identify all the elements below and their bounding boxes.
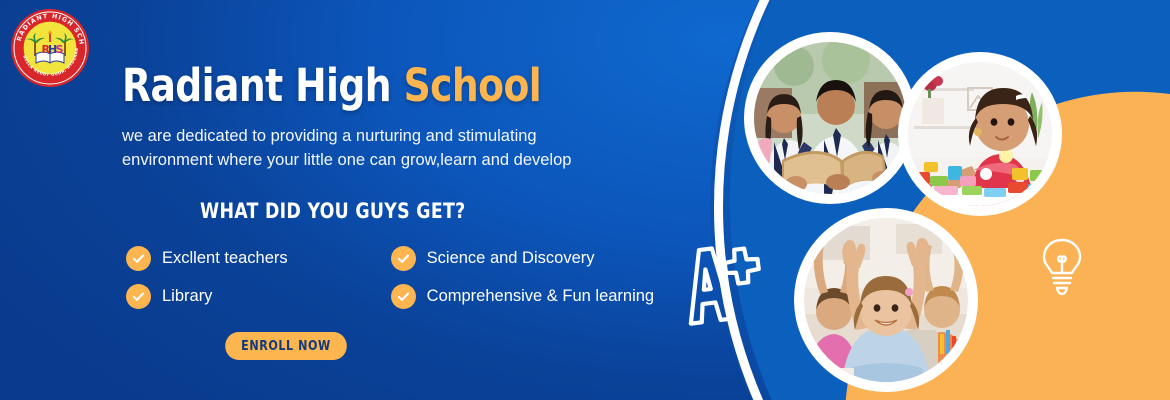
list-item: Comprehensive & Fun learning xyxy=(391,284,654,309)
features-heading: WHAT DID YOU GUYS GET? xyxy=(200,199,643,223)
photo-students-reading xyxy=(744,32,916,204)
check-circle-icon xyxy=(126,284,151,309)
svg-text:S: S xyxy=(56,43,64,56)
photo-children-hands-raised xyxy=(794,208,978,392)
list-item: Library xyxy=(126,284,288,309)
subtitle-line-1: we are dedicated to providing a nurturin… xyxy=(122,127,537,145)
hero-copy: Radiant High School we are dedicated to … xyxy=(122,62,682,223)
page-title: Radiant High School xyxy=(122,62,643,109)
title-primary: Radiant High xyxy=(122,59,391,112)
school-logo[interactable]: R H S RADIANT HIGH SCHOOL NELLA REDDY GU… xyxy=(10,8,90,88)
a-plus-grade-icon xyxy=(672,232,764,332)
enroll-now-button[interactable]: ENROLL NOW xyxy=(225,332,347,360)
feature-label: Science and Discovery xyxy=(427,249,595,268)
features-column-1: Excllent teachers Library xyxy=(126,246,288,309)
feature-label: Library xyxy=(162,287,212,306)
subtitle-line-2: environment where your little one can gr… xyxy=(122,151,571,169)
photo-toddler-blocks xyxy=(898,52,1062,216)
features-list: Excllent teachers Library Science and Di… xyxy=(126,246,654,309)
check-circle-icon xyxy=(391,246,416,271)
check-circle-icon xyxy=(391,284,416,309)
feature-label: Excllent teachers xyxy=(162,249,288,268)
lightbulb-idea-icon xyxy=(1038,236,1086,298)
hero-subtitle: we are dedicated to providing a nurturin… xyxy=(122,125,667,173)
list-item: Science and Discovery xyxy=(391,246,654,271)
title-accent: School xyxy=(404,59,542,112)
list-item: Excllent teachers xyxy=(126,246,288,271)
school-hero-banner: R H S RADIANT HIGH SCHOOL NELLA REDDY GU… xyxy=(0,0,1170,400)
features-column-2: Science and Discovery Comprehensive & Fu… xyxy=(391,246,654,309)
check-circle-icon xyxy=(126,246,151,271)
feature-label: Comprehensive & Fun learning xyxy=(427,287,654,306)
